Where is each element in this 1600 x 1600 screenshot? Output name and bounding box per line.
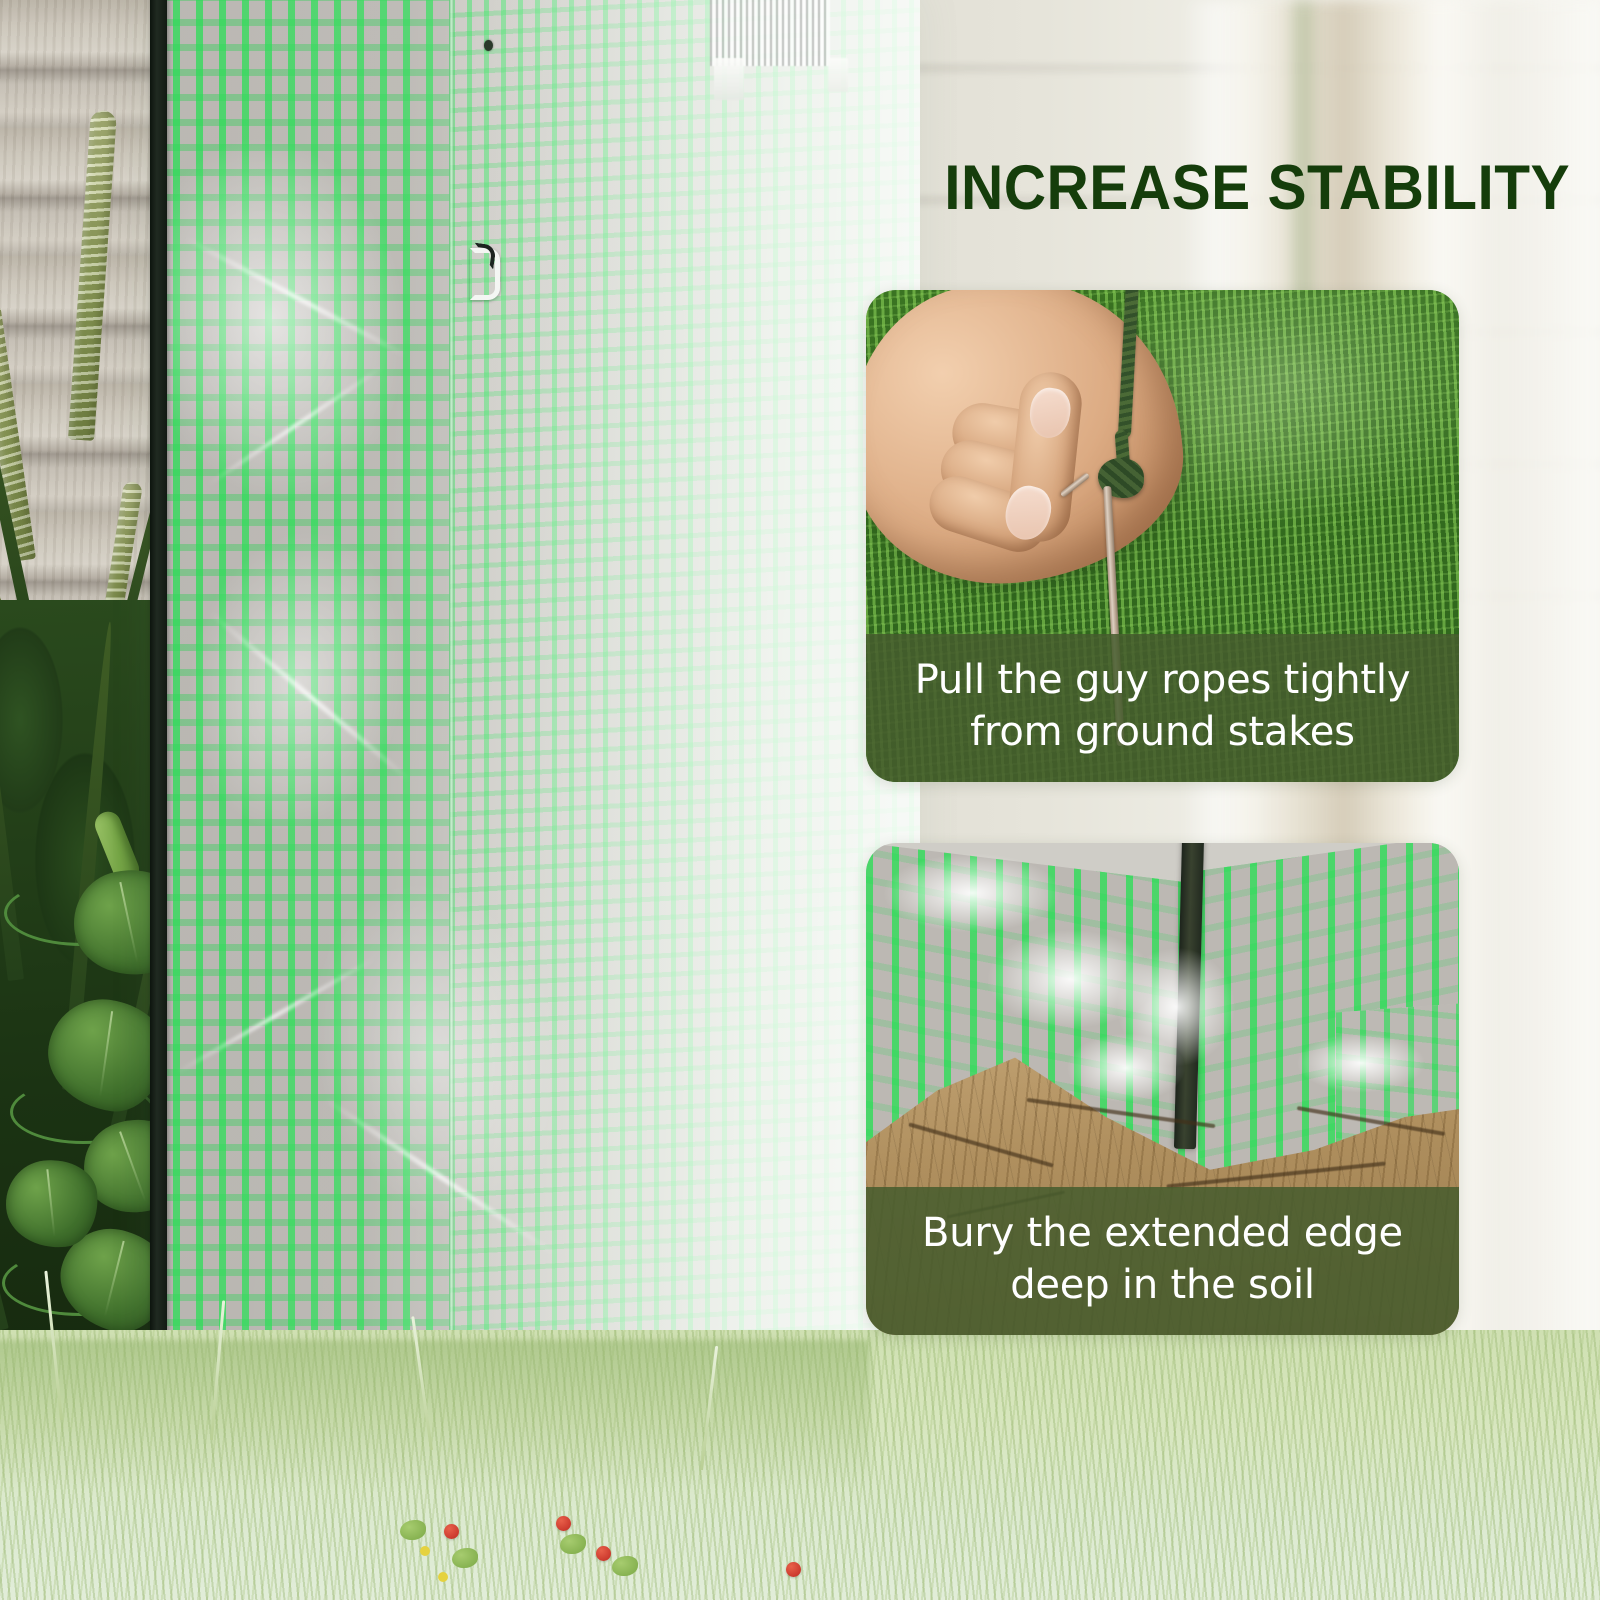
red-berry bbox=[786, 1562, 801, 1577]
red-berry bbox=[596, 1546, 611, 1561]
mesh-pattern bbox=[150, 0, 450, 1464]
page-title: INCREASE STABILITY bbox=[705, 146, 1570, 230]
greenhouse-front-panel bbox=[150, 0, 450, 1464]
caption-line-2: from ground stakes bbox=[892, 706, 1433, 758]
cover-clip[interactable] bbox=[470, 248, 500, 300]
product-feature-image: INCREASE STABILITY Pull the guy ropes ti… bbox=[0, 0, 1600, 1600]
eyelet bbox=[484, 40, 493, 51]
lawn-shadow bbox=[0, 1340, 870, 1490]
frame-pole bbox=[150, 0, 167, 1474]
vent-mesh-window bbox=[710, 0, 830, 66]
caption-line-1: Bury the extended edge bbox=[892, 1207, 1433, 1259]
caption-line-1: Pull the guy ropes tightly bbox=[892, 654, 1433, 706]
caption-line-2: deep in the soil bbox=[892, 1259, 1433, 1311]
feature-card-buried-edge: Bury the extended edge deep in the soil bbox=[866, 843, 1459, 1335]
red-berry bbox=[444, 1524, 459, 1539]
yellow-flower-bud bbox=[438, 1572, 448, 1582]
vent-tab bbox=[714, 58, 744, 100]
red-berry bbox=[556, 1516, 571, 1531]
yellow-flower-bud bbox=[420, 1546, 430, 1556]
feature-caption-buried-edge: Bury the extended edge deep in the soil bbox=[866, 1187, 1459, 1335]
feature-caption-guy-ropes: Pull the guy ropes tightly from ground s… bbox=[866, 634, 1459, 782]
vent-tab bbox=[828, 58, 848, 92]
panel-seam bbox=[449, 0, 454, 1454]
feature-card-guy-ropes: Pull the guy ropes tightly from ground s… bbox=[866, 290, 1459, 782]
